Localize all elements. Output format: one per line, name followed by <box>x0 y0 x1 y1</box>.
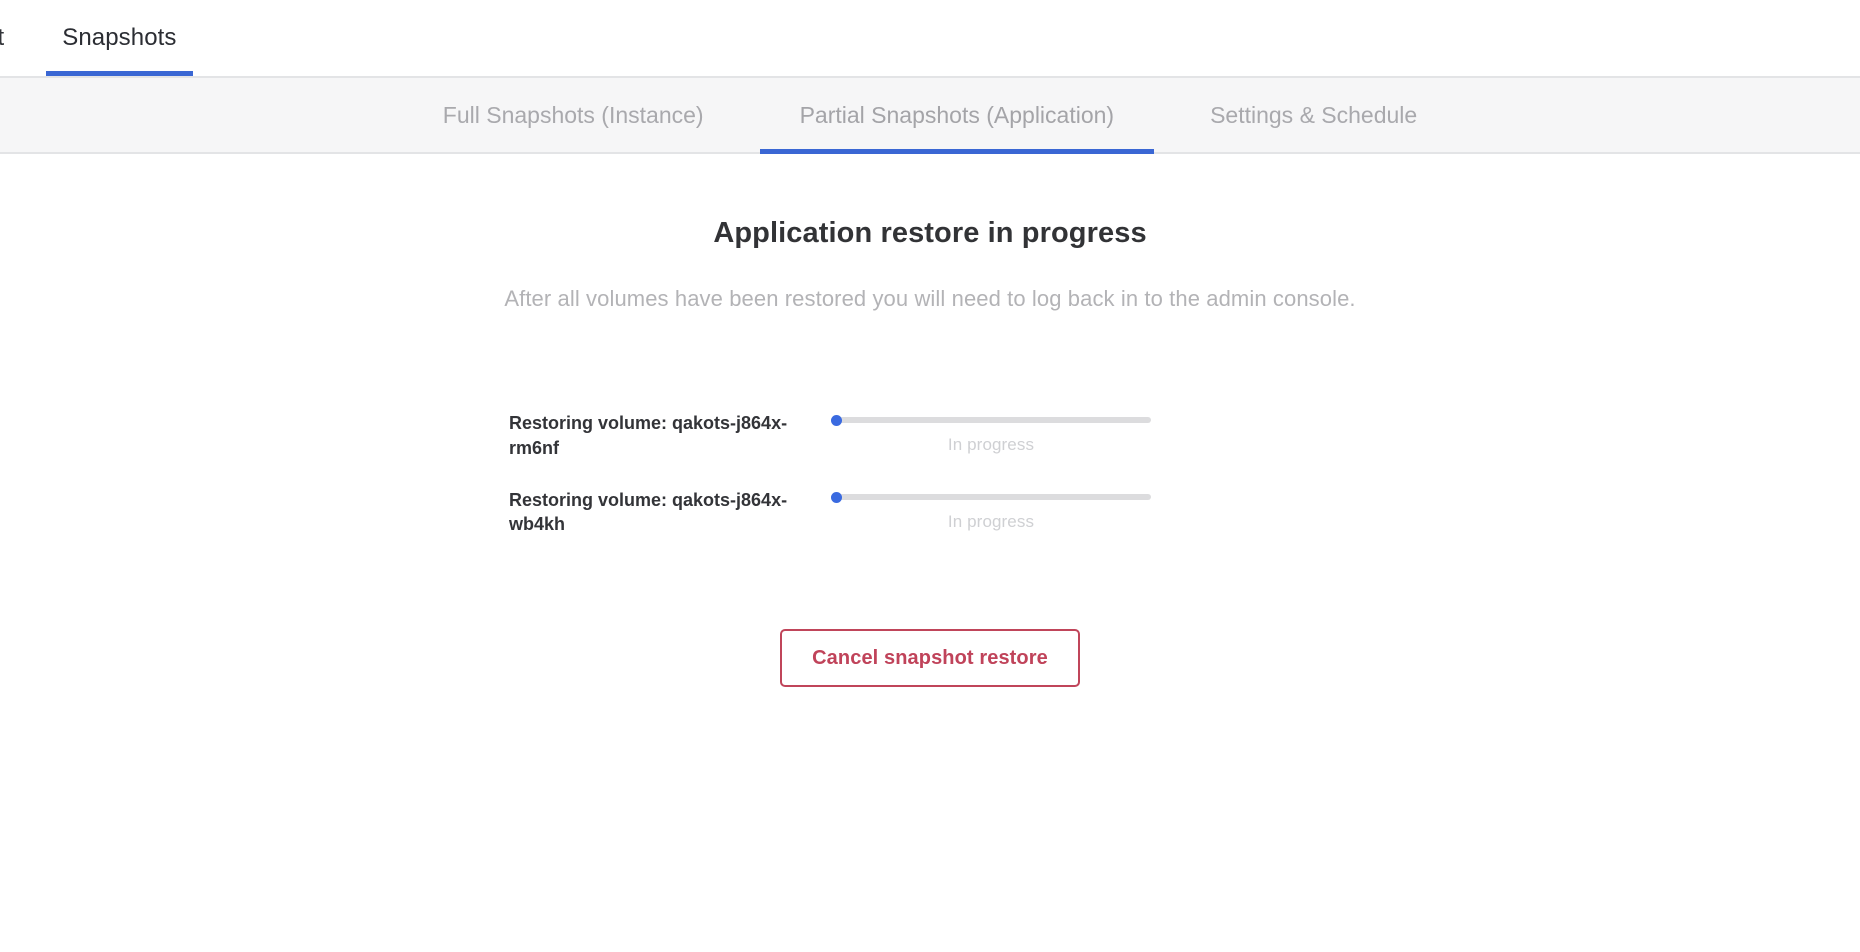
volume-progress-list: Restoring volume: qakots-j864x-rm6nf In … <box>0 409 1860 562</box>
subtab-settings-schedule[interactable]: Settings & Schedule <box>1162 76 1465 154</box>
subtab-partial-snapshots[interactable]: Partial Snapshots (Application) <box>752 76 1163 154</box>
progress-bar <box>831 494 1151 500</box>
progress-status-text: In progress <box>831 512 1151 532</box>
actions-row: Cancel snapshot restore <box>0 629 1860 687</box>
progress-bar <box>831 417 1151 423</box>
top-tab-snapshots[interactable]: Snapshots <box>38 0 200 76</box>
sub-tabbar: Full Snapshots (Instance) Partial Snapsh… <box>0 76 1860 154</box>
page-subtitle: After all volumes have been restored you… <box>0 251 1860 314</box>
subtab-label: Full Snapshots (Instance) <box>443 102 704 129</box>
top-tabbar: nt Snapshots <box>0 0 1860 76</box>
top-tab-truncated[interactable]: nt <box>0 0 38 76</box>
volume-progress-group: In progress <box>831 409 1351 455</box>
volume-progress-row: Restoring volume: qakots-j864x-wb4kh In … <box>509 486 1351 537</box>
page-title: Application restore in progress <box>0 216 1860 251</box>
volume-progress-group: In progress <box>831 486 1351 532</box>
top-tab-label: Snapshots <box>62 24 176 52</box>
progress-indicator-dot <box>831 415 842 426</box>
volume-label: Restoring volume: qakots-j864x-rm6nf <box>509 409 831 460</box>
subtab-label: Settings & Schedule <box>1210 102 1417 129</box>
cancel-snapshot-restore-button[interactable]: Cancel snapshot restore <box>780 629 1080 687</box>
subtab-full-snapshots[interactable]: Full Snapshots (Instance) <box>395 76 752 154</box>
top-tab-label: nt <box>0 24 4 52</box>
restore-progress-panel: Application restore in progress After al… <box>0 154 1860 687</box>
progress-indicator-dot <box>831 492 842 503</box>
volume-label: Restoring volume: qakots-j864x-wb4kh <box>509 486 831 537</box>
subtab-label: Partial Snapshots (Application) <box>800 102 1115 129</box>
volume-progress-row: Restoring volume: qakots-j864x-rm6nf In … <box>509 409 1351 460</box>
progress-status-text: In progress <box>831 435 1151 455</box>
